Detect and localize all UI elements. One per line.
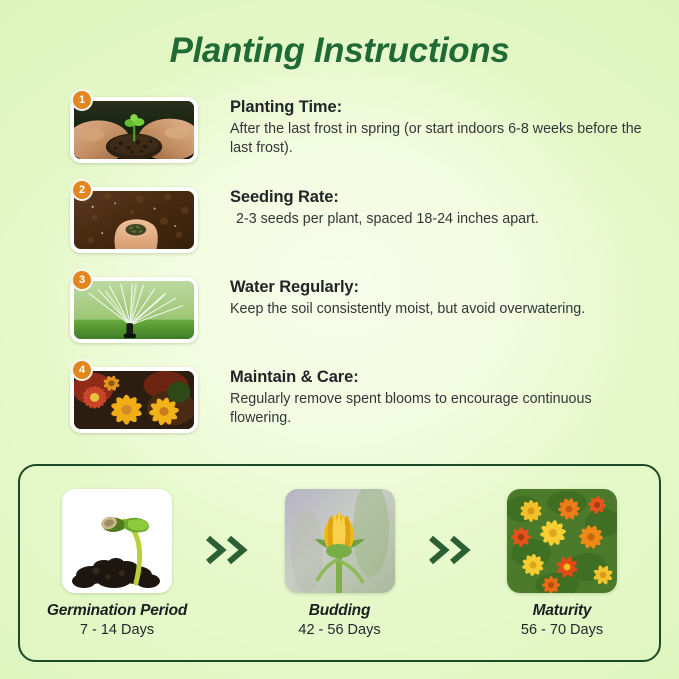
step-body: Regularly remove spent blooms to encoura… [230, 390, 650, 428]
double-chevron-right-icon [200, 535, 256, 565]
stage-days: 42 - 56 Days [265, 622, 415, 638]
growth-timeline-panel: Germination Period 7 - 14 Days [18, 464, 661, 662]
timeline-stage: Germination Period 7 - 14 Days [42, 489, 192, 638]
instruction-step: 3 [0, 270, 679, 360]
page-title: Planting Instructions [0, 31, 679, 71]
step-number-badge: 1 [71, 89, 93, 111]
step-number-badge: 4 [71, 359, 93, 381]
stage-days: 7 - 14 Days [42, 622, 192, 638]
instruction-step: 1 [0, 90, 679, 180]
instruction-step: 4 [0, 360, 679, 450]
step-heading: Water Regularly: [230, 278, 585, 297]
step-number-badge: 3 [71, 269, 93, 291]
infographic-page: Planting Instructions 1 [0, 0, 679, 679]
step-text: Planting Time: After the last frost in s… [203, 90, 650, 158]
step-text: Maintain & Care: Regularly remove spent … [203, 360, 650, 428]
step-number-badge: 2 [71, 179, 93, 201]
stage-label: Maturity [487, 602, 637, 620]
stage-label: Germination Period [42, 602, 192, 620]
yellow-flower-bud-photo [285, 489, 395, 593]
timeline-stage: Maturity 56 - 70 Days [487, 489, 637, 638]
instruction-step: 2 [0, 180, 679, 270]
step-heading: Maintain & Care: [230, 368, 650, 387]
step-text: Seeding Rate: 2-3 seeds per plant, space… [203, 180, 539, 229]
step-body: After the last frost in spring (or start… [230, 120, 650, 158]
step-thumbnail-wrap: 2 [70, 187, 203, 253]
step-thumbnail-wrap: 1 [70, 97, 203, 163]
timeline-stage: Budding 42 - 56 Days [265, 489, 415, 638]
stage-label: Budding [265, 602, 415, 620]
step-body: Keep the soil consistently moist, but av… [230, 300, 585, 319]
stage-days: 56 - 70 Days [487, 622, 637, 638]
step-text: Water Regularly: Keep the soil consisten… [203, 270, 585, 319]
step-body: 2-3 seeds per plant, spaced 18-24 inches… [230, 210, 539, 229]
step-heading: Planting Time: [230, 98, 650, 117]
field-of-blooming-flowers-photo [507, 489, 617, 593]
step-heading: Seeding Rate: [230, 188, 539, 207]
step-thumbnail-wrap: 3 [70, 277, 203, 343]
sprouting-seed-in-soil-photo [62, 489, 172, 593]
step-thumbnail-wrap: 4 [70, 367, 203, 433]
double-chevron-right-icon [423, 535, 479, 565]
instruction-step-list: 1 [0, 90, 679, 450]
